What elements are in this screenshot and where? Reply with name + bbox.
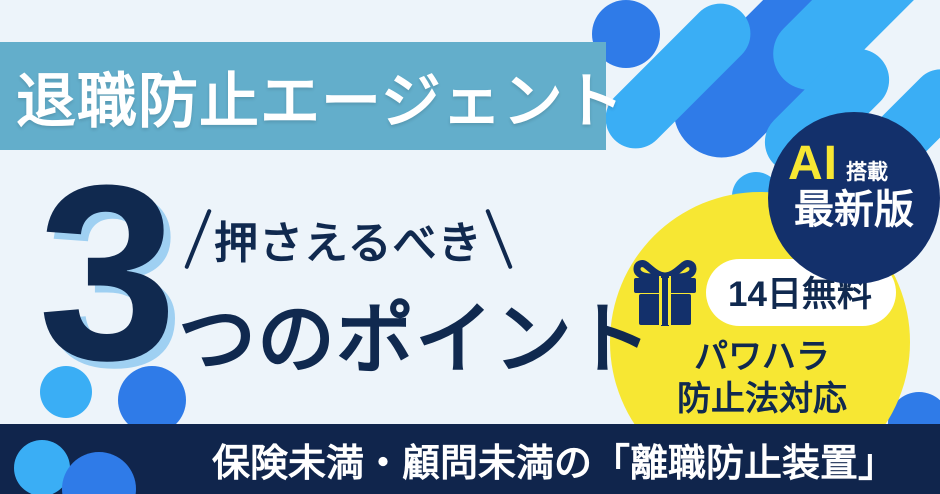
promo-text-block: パワハラ 防止法対応 [628,336,896,420]
slash-right-icon [485,209,513,270]
slash-left-icon [184,209,212,270]
promo-line-1: パワハラ [628,336,896,378]
gift-icon [628,256,702,328]
ai-version-label: 最新版 [776,190,932,230]
promo-line-2: 防止法対応 [628,378,896,420]
headline-top-row: 押さえるべき [196,207,501,271]
footer-bar: 保険未満・顧問未満の「離職防止装置」 [0,424,940,494]
marketing-banner: 退職防止エージェント 3 押さえるべき つのポイント 14日無料 パワハラ 防止… [0,0,940,494]
ai-label: AI [788,140,838,188]
headline-bottom-text: つのポイント [178,277,652,389]
footer-tagline: 保険未満・顧問未満の「離職防止装置」 [212,432,896,487]
headline-top-text: 押さえるべき [214,207,483,271]
page-title: 退職防止エージェント [16,53,625,140]
headline-number: 3 [38,148,169,398]
ai-sub-label: 搭載 [846,162,888,183]
ai-badge-row: AI 搭載 [788,140,888,188]
